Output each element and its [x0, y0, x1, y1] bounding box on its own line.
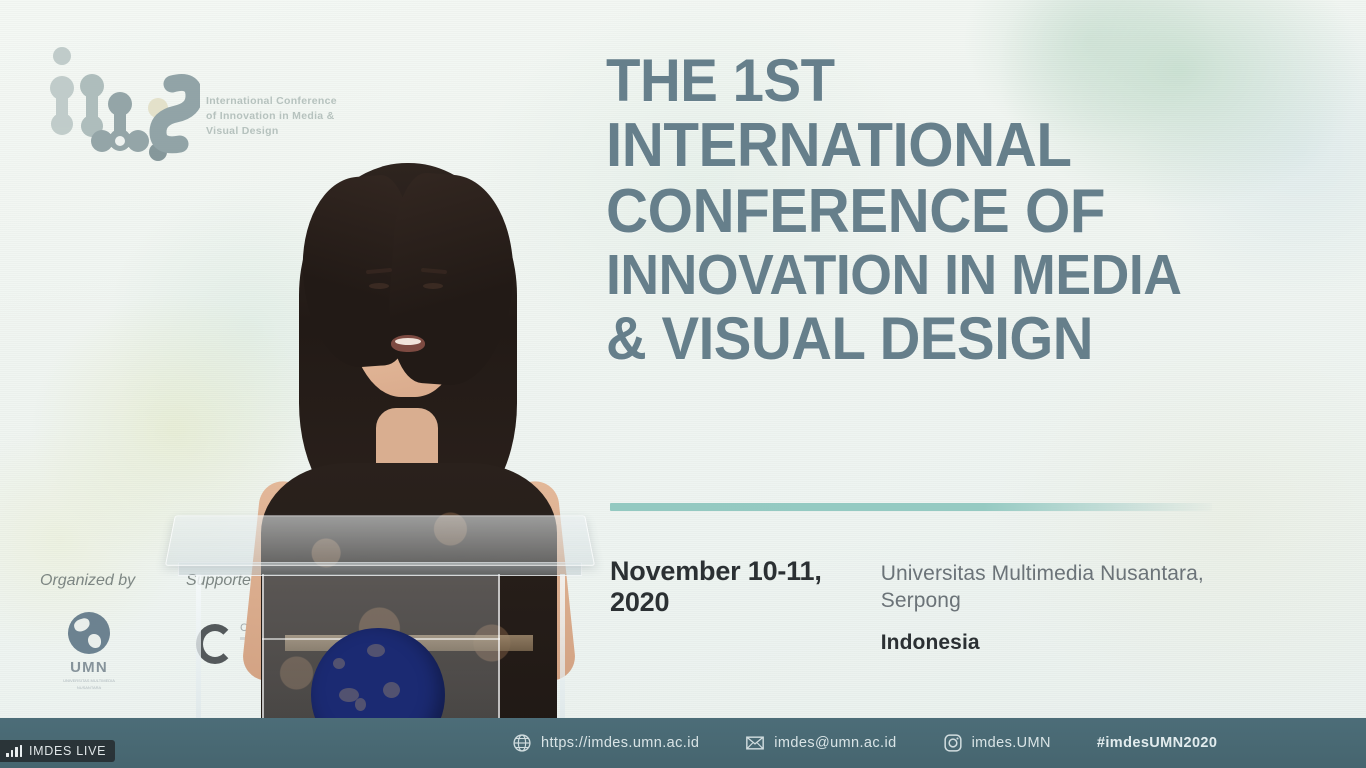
venue-country: Indonesia: [881, 631, 1250, 655]
globe-icon: [512, 733, 532, 753]
organized-by-block: Organized by: [40, 572, 135, 590]
organized-by-label: Organized by: [40, 572, 135, 590]
speaker-eye-left: [369, 283, 389, 289]
footer-hashtag: #imdesUMN2020: [1097, 735, 1217, 751]
title-line-5: & VISUAL DESIGN: [606, 310, 1264, 368]
footer-contact-list: https://imdes.umn.ac.id imdes@umn.ac.id …: [512, 718, 1217, 768]
speaker-mouth: [391, 335, 425, 352]
live-badge-label: IMDES LIVE: [29, 744, 106, 758]
envelope-icon: [745, 733, 765, 753]
umn-wordmark: UMN: [58, 659, 120, 676]
event-details: November 10-11, 2020 Universitas Multime…: [610, 556, 1250, 655]
podium-top: [165, 515, 595, 565]
footer-website-text: https://imdes.umn.ac.id: [541, 735, 699, 751]
footer-email-text: imdes@umn.ac.id: [774, 735, 896, 751]
event-footer-bar: https://imdes.umn.ac.id imdes@umn.ac.id …: [0, 718, 1366, 768]
footer-hashtag-text: #imdesUMN2020: [1097, 735, 1217, 751]
event-title: THE 1ST INTERNATIONAL CONFERENCE OF INNO…: [606, 52, 1306, 374]
footer-website[interactable]: https://imdes.umn.ac.id: [512, 733, 699, 753]
umn-logo: UMN UNIVERSITAS MULTIMEDIA NUSANTARA: [58, 612, 120, 686]
venue-name: Universitas Multimedia Nusantara, Serpon…: [881, 560, 1250, 615]
title-line-4: INNOVATION IN MEDIA: [606, 248, 1264, 303]
event-location: Universitas Multimedia Nusantara, Serpon…: [881, 556, 1250, 655]
title-line-2: INTERNATIONAL: [606, 116, 1264, 176]
imdes-logo: International Conference of Innovation i…: [40, 42, 340, 182]
instagram-icon: [943, 733, 963, 753]
speaker-eye-right: [423, 283, 443, 289]
footer-email[interactable]: imdes@umn.ac.id: [745, 733, 896, 753]
footer-instagram[interactable]: imdes.UMN: [943, 733, 1051, 753]
imdes-logo-caption: International Conference of Innovation i…: [206, 94, 346, 140]
imdes-molecule-logo-icon: [40, 42, 200, 172]
footer-instagram-text: imdes.UMN: [972, 735, 1051, 751]
title-line-1: THE 1ST: [606, 52, 1264, 110]
video-stream-frame: International Conference of Innovation i…: [0, 0, 1366, 768]
signal-bars-icon: [6, 745, 22, 757]
title-divider: [610, 503, 1212, 511]
umn-subtitle: UNIVERSITAS MULTIMEDIA NUSANTARA: [58, 678, 120, 692]
live-stream-badge: IMDES LIVE: [0, 740, 115, 762]
event-date: November 10-11, 2020: [610, 556, 881, 655]
title-line-3: CONFERENCE OF: [606, 182, 1264, 242]
umn-globe-icon: [68, 612, 110, 654]
